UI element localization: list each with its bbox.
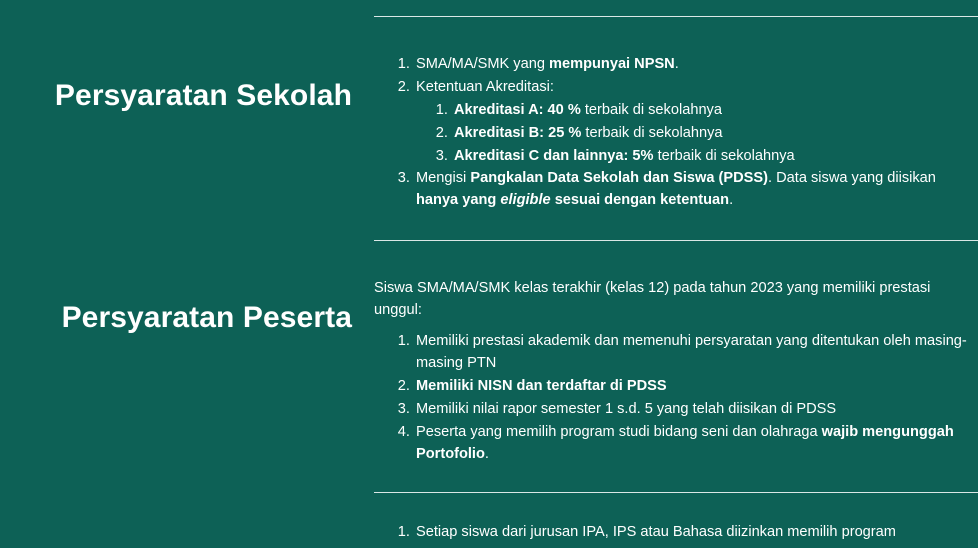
akreditasi-desc: terbaik di sekolahnya bbox=[581, 125, 722, 141]
section-persyaratan-sekolah: SMA/MA/SMK yang mempunyai NPSN. Ketentua… bbox=[374, 54, 978, 213]
list-item: Akreditasi B: 25 % terbaik di sekolahnya bbox=[452, 123, 978, 145]
item-text-bold: Pangkalan Data Sekolah dan Siswa (PDSS) bbox=[470, 170, 768, 186]
list-item: Memiliki nilai rapor semester 1 s.d. 5 y… bbox=[414, 399, 978, 421]
heading-persyaratan-peserta: Persyaratan Peserta bbox=[0, 300, 352, 337]
list-item: Peserta yang memilih program studi bidan… bbox=[414, 422, 978, 466]
list-akreditasi: Akreditasi A: 40 % terbaik di sekolahnya… bbox=[416, 100, 978, 168]
divider-bottom bbox=[374, 492, 978, 493]
item-text-tail: . bbox=[729, 192, 733, 208]
peserta-intro-paragraph: Siswa SMA/MA/SMK kelas terakhir (kelas 1… bbox=[374, 278, 978, 321]
item-text-prefix: Ketentuan Akreditasi: bbox=[416, 79, 554, 95]
item-text: Setiap siswa dari jurusan IPA, IPS atau … bbox=[416, 524, 896, 540]
item-text-suffix: . Data siswa yang diisikan bbox=[768, 170, 936, 186]
item-text-prefix: Mengisi bbox=[416, 170, 470, 186]
akreditasi-label: Akreditasi B: 25 % bbox=[454, 125, 581, 141]
list-item: Akreditasi C dan lainnya: 5% terbaik di … bbox=[452, 146, 978, 168]
divider-middle bbox=[374, 240, 978, 241]
list-item: SMA/MA/SMK yang mempunyai NPSN. bbox=[414, 54, 978, 76]
content-column: SMA/MA/SMK yang mempunyai NPSN. Ketentua… bbox=[374, 0, 978, 548]
list-item: Ketentuan Akreditasi: Akreditasi A: 40 %… bbox=[414, 77, 978, 168]
list-partial-bottom: Setiap siswa dari jurusan IPA, IPS atau … bbox=[374, 522, 978, 544]
item-text-suffix: . bbox=[485, 446, 489, 462]
list-item: Memiliki prestasi akademik dan memenuhi … bbox=[414, 331, 978, 375]
heading-persyaratan-sekolah: Persyaratan Sekolah bbox=[0, 78, 352, 115]
list-persyaratan-sekolah: SMA/MA/SMK yang mempunyai NPSN. Ketentua… bbox=[374, 54, 978, 212]
section-persyaratan-peserta: Siswa SMA/MA/SMK kelas terakhir (kelas 1… bbox=[374, 278, 978, 467]
slide: Persyaratan Sekolah Persyaratan Peserta … bbox=[0, 0, 978, 548]
akreditasi-label: Akreditasi A: 40 % bbox=[454, 102, 581, 118]
akreditasi-desc: terbaik di sekolahnya bbox=[581, 102, 722, 118]
item-text-suffix: . bbox=[675, 56, 679, 72]
item-text-bold: Memiliki NISN dan terdaftar di PDSS bbox=[416, 378, 667, 394]
item-text-bold3: sesuai dengan ketentuan bbox=[551, 192, 729, 208]
item-text-prefix: Peserta yang memilih program studi bidan… bbox=[416, 424, 822, 440]
item-text-italic-bold: eligible bbox=[500, 192, 550, 208]
list-persyaratan-peserta: Memiliki prestasi akademik dan memenuhi … bbox=[374, 331, 978, 465]
section-partial-bottom: Setiap siswa dari jurusan IPA, IPS atau … bbox=[374, 522, 978, 545]
list-item: Memiliki NISN dan terdaftar di PDSS bbox=[414, 376, 978, 398]
item-text-bold: mempunyai NPSN bbox=[549, 56, 675, 72]
item-text-prefix: SMA/MA/SMK yang bbox=[416, 56, 549, 72]
item-text-bold2: hanya yang bbox=[416, 192, 500, 208]
item-text: Memiliki prestasi akademik dan memenuhi … bbox=[416, 333, 967, 371]
akreditasi-label: Akreditasi C dan lainnya: 5% bbox=[454, 148, 654, 164]
akreditasi-desc: terbaik di sekolahnya bbox=[654, 148, 795, 164]
item-text: Memiliki nilai rapor semester 1 s.d. 5 y… bbox=[416, 401, 836, 417]
divider-top bbox=[374, 16, 978, 17]
list-item: Mengisi Pangkalan Data Sekolah dan Siswa… bbox=[414, 168, 978, 212]
list-item: Setiap siswa dari jurusan IPA, IPS atau … bbox=[414, 522, 978, 544]
list-item: Akreditasi A: 40 % terbaik di sekolahnya bbox=[452, 100, 978, 122]
